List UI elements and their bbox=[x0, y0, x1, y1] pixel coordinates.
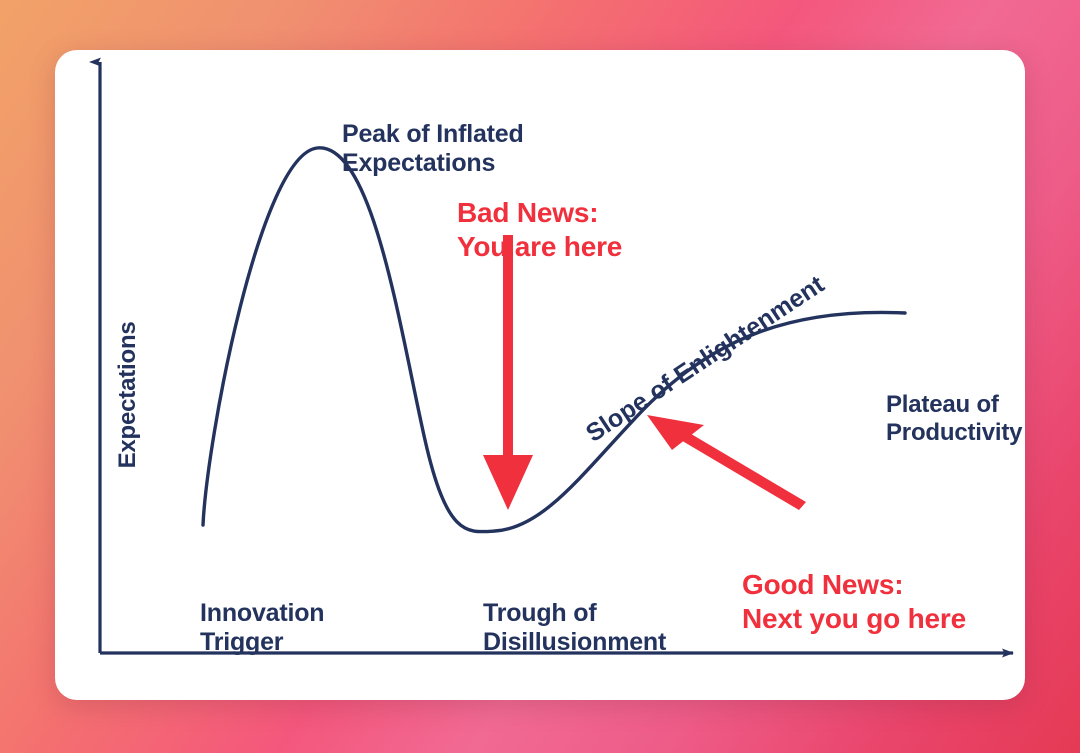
annotation-good-news-line1: Good News: bbox=[742, 569, 903, 600]
good-news-arrow bbox=[647, 415, 806, 510]
annotation-bad-news: Bad News:You are here bbox=[457, 196, 622, 264]
label-innovation-line2: Trigger bbox=[200, 628, 283, 656]
label-innovation-trigger: InnovationTrigger bbox=[200, 599, 324, 657]
y-axis-title: Expectations bbox=[114, 295, 142, 495]
label-innovation-line1: Innovation bbox=[200, 599, 324, 627]
label-peak-line1: Peak of Inflated bbox=[342, 120, 524, 148]
annotation-bad-news-line1: Bad News: bbox=[457, 197, 598, 228]
annotation-bad-news-line2: You are here bbox=[457, 231, 622, 262]
chart-card: Peak of InflatedExpectations InnovationT… bbox=[55, 50, 1025, 700]
annotation-good-news: Good News:Next you go here bbox=[742, 568, 966, 636]
annotation-good-news-line2: Next you go here bbox=[742, 603, 966, 634]
label-trough-of-disillusionment: Trough ofDisillusionment bbox=[483, 599, 666, 657]
label-plateau-of-productivity: Plateau ofProductivity bbox=[886, 391, 1022, 447]
label-trough-line2: Disillusionment bbox=[483, 628, 666, 656]
bad-news-arrow bbox=[483, 235, 533, 510]
label-peak-line2: Expectations bbox=[342, 149, 495, 177]
label-plateau-line1: Plateau of bbox=[886, 391, 999, 418]
label-plateau-line2: Productivity bbox=[886, 419, 1022, 446]
label-peak-of-inflated-expectations: Peak of InflatedExpectations bbox=[342, 120, 524, 178]
label-trough-line1: Trough of bbox=[483, 599, 596, 627]
hype-cycle-stage: Peak of InflatedExpectations InnovationT… bbox=[0, 0, 1080, 753]
